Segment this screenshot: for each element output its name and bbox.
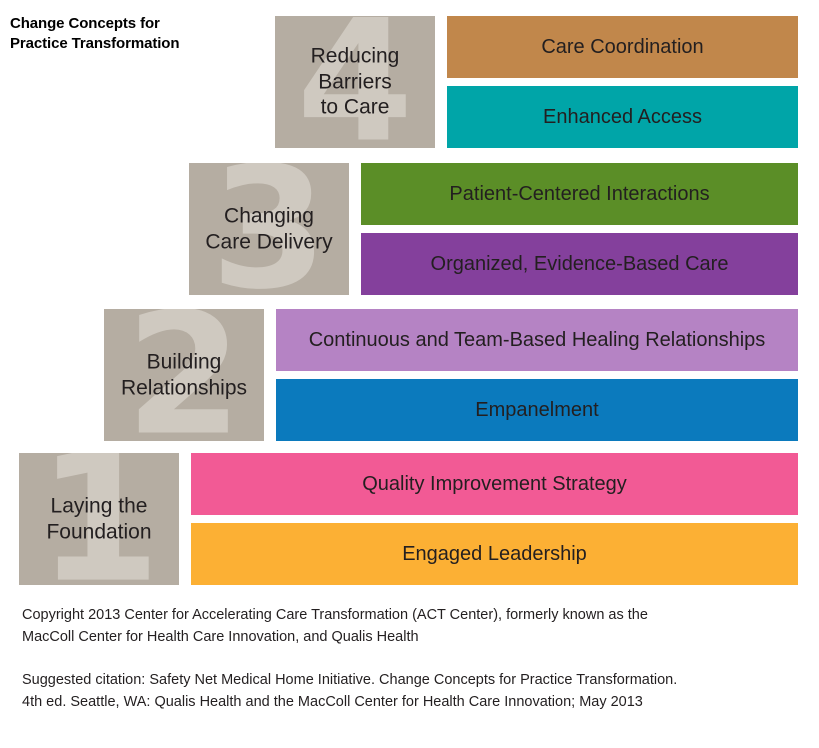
bar-label-empanelment: Empanelment <box>475 399 598 422</box>
stair-row-level-2: 2 Building Relationships Continuous and … <box>104 309 798 441</box>
level-box-1[interactable]: 1 Laying the Foundation <box>19 453 179 585</box>
bar-engaged-leadership[interactable]: Engaged Leadership <box>191 523 798 585</box>
stair-row-level-3: 3 Changing Care Delivery Patient-Centere… <box>189 163 798 295</box>
bar-empanelment[interactable]: Empanelment <box>276 379 798 441</box>
bar-care-coordination[interactable]: Care Coordination <box>447 16 798 78</box>
diagram-canvas: Change Concepts for Practice Transformat… <box>0 0 819 748</box>
footer-citation: Suggested citation: Safety Net Medical H… <box>22 670 802 714</box>
bar-patient-centered-interactions[interactable]: Patient-Centered Interactions <box>361 163 798 225</box>
bar-label-patient-centered-interactions: Patient-Centered Interactions <box>449 183 709 206</box>
page-title-line-1: Change Concepts for <box>10 14 260 34</box>
level-box-4[interactable]: 4 Reducing Barriers to Care <box>275 16 435 148</box>
level-label-1: Laying the Foundation <box>19 493 179 544</box>
footer-copyright-text: Copyright 2013 Center for Accelerating C… <box>22 605 802 649</box>
level-2-bars: Continuous and Team-Based Healing Relati… <box>276 309 798 441</box>
level-label-3: Changing Care Delivery <box>189 203 349 254</box>
level-label-4: Reducing Barriers to Care <box>275 44 435 121</box>
bar-quality-improvement-strategy[interactable]: Quality Improvement Strategy <box>191 453 798 515</box>
footer-citation-text: Suggested citation: Safety Net Medical H… <box>22 670 802 714</box>
stair-row-level-4: 4 Reducing Barriers to Care Care Coordin… <box>275 16 798 148</box>
bar-label-continuous-team-based-healing-relationships: Continuous and Team-Based Healing Relati… <box>309 329 766 352</box>
bar-continuous-team-based-healing-relationships[interactable]: Continuous and Team-Based Healing Relati… <box>276 309 798 371</box>
bar-label-enhanced-access: Enhanced Access <box>543 106 702 129</box>
page-title: Change Concepts for Practice Transformat… <box>10 14 260 55</box>
level-box-2[interactable]: 2 Building Relationships <box>104 309 264 441</box>
bar-organized-evidence-based-care[interactable]: Organized, Evidence-Based Care <box>361 233 798 295</box>
level-label-2: Building Relationships <box>104 349 264 400</box>
level-1-bars: Quality Improvement Strategy Engaged Lea… <box>191 453 798 585</box>
page-title-line-2: Practice Transformation <box>10 34 260 54</box>
stair-row-level-1: 1 Laying the Foundation Quality Improvem… <box>19 453 798 585</box>
level-3-bars: Patient-Centered Interactions Organized,… <box>361 163 798 295</box>
footer-copyright: Copyright 2013 Center for Accelerating C… <box>22 605 802 649</box>
bar-label-organized-evidence-based-care: Organized, Evidence-Based Care <box>431 253 729 276</box>
bar-label-care-coordination: Care Coordination <box>541 36 703 59</box>
bar-label-engaged-leadership: Engaged Leadership <box>402 543 587 566</box>
level-box-3[interactable]: 3 Changing Care Delivery <box>189 163 349 295</box>
bar-enhanced-access[interactable]: Enhanced Access <box>447 86 798 148</box>
level-4-bars: Care Coordination Enhanced Access <box>447 16 798 148</box>
bar-label-quality-improvement-strategy: Quality Improvement Strategy <box>362 473 627 496</box>
